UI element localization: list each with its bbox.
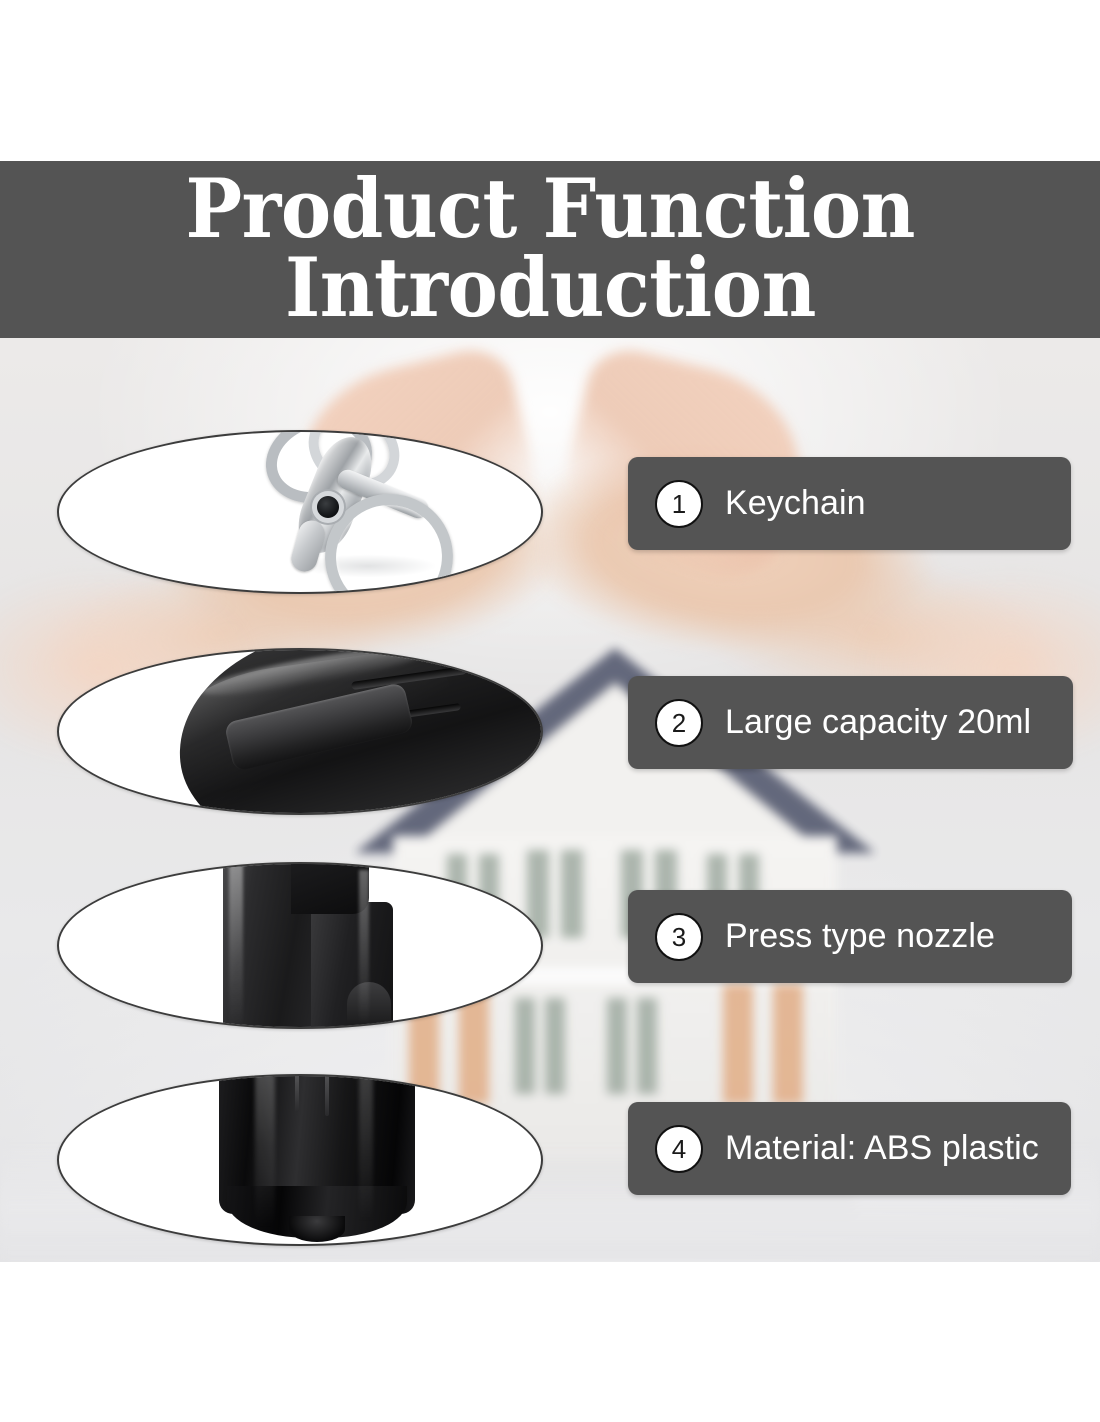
feature-label-2: 2 Large capacity 20ml <box>628 676 1073 769</box>
feature-label-text-3: Press type nozzle <box>725 917 995 956</box>
nozzle-head-icon <box>59 864 541 1027</box>
feature-number-badge-2: 2 <box>655 699 703 747</box>
feature-label-text-1: Keychain <box>725 484 866 523</box>
detail-oval-nozzle <box>57 862 543 1029</box>
right-wrist <box>790 518 1100 818</box>
detail-oval-keychain <box>57 430 543 594</box>
feature-label-text-4: Material: ABS plastic <box>725 1129 1039 1168</box>
house-column <box>773 984 803 1104</box>
page-title-line-1: Product Function <box>185 170 914 250</box>
product-infographic-page: Product Function Introduction <box>0 0 1100 1422</box>
header-banner: Product Function Introduction <box>0 161 1100 338</box>
feature-number-badge-1: 1 <box>655 480 703 528</box>
house-window <box>637 998 657 1094</box>
page-title-line-2: Introduction <box>285 249 816 329</box>
house-window <box>545 998 565 1094</box>
house-window <box>607 998 627 1094</box>
feature-number-badge-4: 4 <box>655 1125 703 1173</box>
detail-oval-capacity <box>57 648 543 815</box>
keychain-clasp-icon <box>59 432 541 592</box>
feature-label-text-2: Large capacity 20ml <box>725 703 1031 742</box>
feature-label-1: 1 Keychain <box>628 457 1071 550</box>
feature-label-3: 3 Press type nozzle <box>628 890 1072 983</box>
feature-label-4: 4 Material: ABS plastic <box>628 1102 1071 1195</box>
house-column <box>723 984 753 1104</box>
plastic-body-icon <box>59 650 541 813</box>
detail-oval-material <box>57 1074 543 1246</box>
house-window <box>561 850 583 938</box>
abs-base-icon <box>59 1076 541 1244</box>
feature-number-badge-3: 3 <box>655 913 703 961</box>
